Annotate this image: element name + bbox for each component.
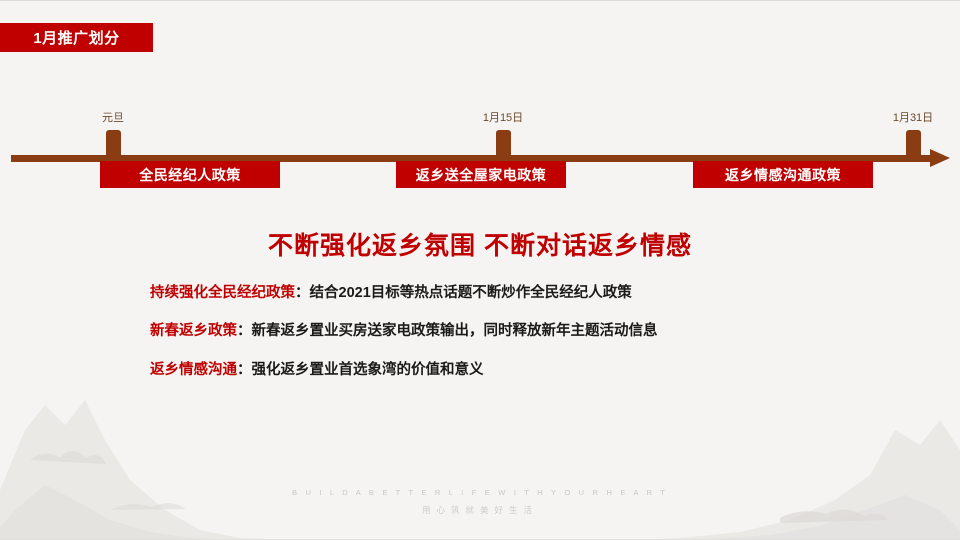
timeline-policy-label-1: 全民经纪人政策 [139, 165, 241, 185]
footer-tagline-english: B U I L D A B E T T E R L I F E W I T H … [0, 488, 960, 497]
timeline-policy-label-2: 返乡送全屋家电政策 [416, 165, 547, 185]
slide-title-banner: 1月推广划分 [0, 23, 153, 52]
timeline-arrow-icon [930, 149, 950, 167]
timeline-date-label-1: 元旦 [102, 109, 124, 125]
footer-tagline-chinese: 用心筑就美好生活 [0, 504, 960, 516]
list-item: 持续强化全民经纪政策：结合2021目标等热点话题不断炒作全民经纪人政策 [150, 283, 910, 303]
mountain-watermark-right-icon [640, 390, 960, 540]
timeline-tick-2 [496, 130, 511, 160]
timeline-date-label-3: 1月31日 [893, 109, 933, 125]
headline-text: 不断强化返乡氛围 不断对话返乡情感 [0, 226, 960, 262]
timeline-policy-label-3: 返乡情感沟通政策 [725, 165, 841, 185]
bullet-key-3: 返乡情感沟通 [150, 362, 237, 378]
bullet-description-1: 结合2021目标等热点话题不断炒作全民经纪人政策 [310, 285, 632, 301]
timeline: 元旦 全民经纪人政策 1月15日 返乡送全屋家电政策 1月31日 返乡情感沟通政… [0, 106, 960, 196]
bullet-separator-1: ： [295, 285, 310, 301]
timeline-policy-box-3[interactable]: 返乡情感沟通政策 [693, 161, 873, 188]
bullet-description-3: 强化返乡置业首选象湾的价值和意义 [252, 362, 484, 378]
bullet-list: 持续强化全民经纪政策：结合2021目标等热点话题不断炒作全民经纪人政策 新春返乡… [150, 283, 910, 398]
slide-title-label: 1月推广划分 [33, 27, 119, 48]
timeline-tick-3 [906, 130, 921, 160]
bullet-key-2: 新春返乡政策 [150, 323, 237, 339]
bullet-key-1: 持续强化全民经纪政策 [150, 285, 295, 301]
timeline-date-label-2: 1月15日 [483, 109, 523, 125]
slide-footer: B U I L D A B E T T E R L I F E W I T H … [0, 488, 960, 516]
timeline-policy-box-2[interactable]: 返乡送全屋家电政策 [396, 161, 566, 188]
list-item: 返乡情感沟通：强化返乡置业首选象湾的价值和意义 [150, 360, 910, 380]
list-item: 新春返乡政策：新春返乡置业买房送家电政策输出，同时释放新年主题活动信息 [150, 321, 910, 341]
bullet-description-2: 新春返乡置业买房送家电政策输出，同时释放新年主题活动信息 [252, 323, 658, 339]
timeline-policy-box-1[interactable]: 全民经纪人政策 [100, 161, 280, 188]
presentation-slide: 1月推广划分 元旦 全民经纪人政策 1月15日 返乡送全屋家电政策 1月31日 … [0, 0, 960, 540]
bullet-separator-2: ： [237, 323, 252, 339]
timeline-tick-1 [106, 130, 121, 160]
bullet-separator-3: ： [237, 362, 252, 378]
